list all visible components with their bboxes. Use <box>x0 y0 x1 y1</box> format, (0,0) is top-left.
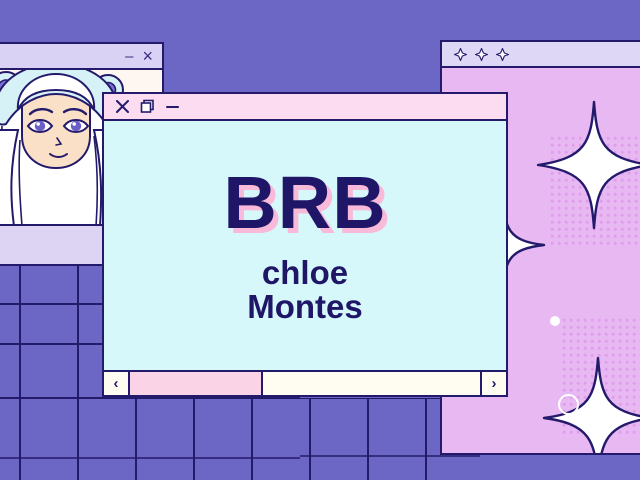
page-title: BRB <box>223 167 386 238</box>
diamond-icon-2 <box>475 48 488 61</box>
right-window-titlebar <box>442 42 640 68</box>
bubble-dot-mid <box>550 316 560 326</box>
bubble-ring-bottom <box>558 394 579 415</box>
artist-first-name: chloe <box>247 256 363 290</box>
diamond-icon-1 <box>454 48 467 61</box>
restore-window-icon[interactable] <box>140 99 155 114</box>
scroll-right-button[interactable]: › <box>480 372 506 395</box>
brb-window-titlebar <box>104 94 506 121</box>
close-icon[interactable] <box>115 99 130 114</box>
artist-name: chloe Montes <box>247 256 363 325</box>
diamond-icon-3 <box>496 48 509 61</box>
minimize-icon[interactable]: – <box>125 49 133 64</box>
scrollbar-track[interactable] <box>130 372 480 395</box>
scrollbar-thumb[interactable] <box>130 372 263 395</box>
poster-canvas: – × <box>0 0 640 480</box>
brb-window[interactable]: BRB chloe Montes ‹ › <box>102 92 508 397</box>
brb-window-content: BRB chloe Montes <box>104 121 506 370</box>
sparkle-large-top-icon <box>536 100 640 230</box>
horizontal-scrollbar[interactable]: ‹ › <box>104 370 506 395</box>
scroll-left-button[interactable]: ‹ <box>104 372 130 395</box>
bubble-dot-bottom <box>580 406 592 418</box>
close-icon[interactable]: × <box>142 47 153 65</box>
avatar-window-titlebar: – × <box>0 44 162 70</box>
sparkle-bottom-icon <box>542 356 640 453</box>
minimize-icon[interactable] <box>165 99 180 114</box>
artist-last-name: Montes <box>247 290 363 324</box>
